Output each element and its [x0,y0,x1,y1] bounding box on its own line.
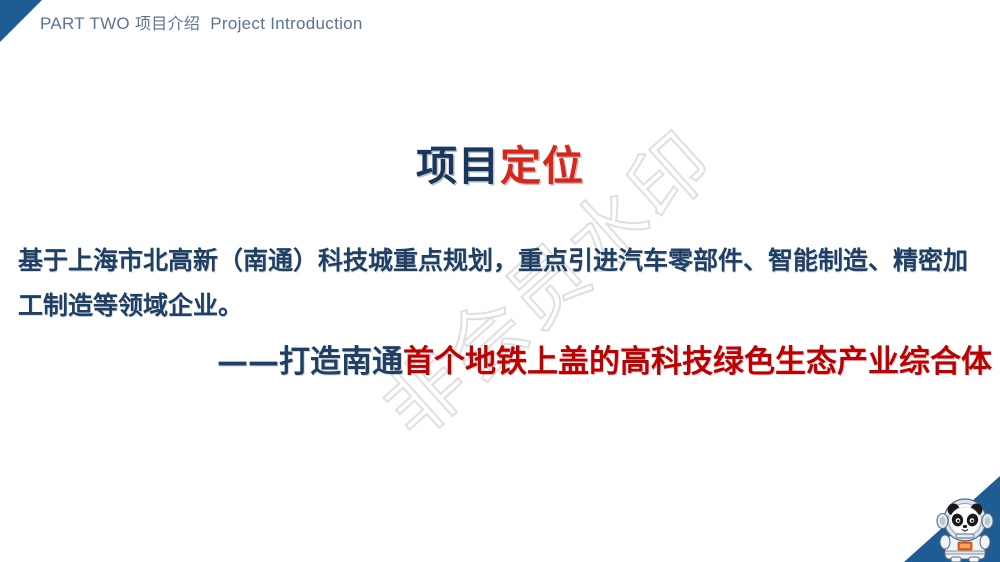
panda-astronaut-mascot [934,496,996,562]
tagline-part2: 首个地铁上盖的 [403,344,620,380]
page-title: 项目定位 [0,132,1000,192]
tagline-dash: —— [217,344,279,380]
body-paragraph: 基于上海市北高新（南通）科技城重点规划，重点引进汽车零部件、智能制造、精密加工制… [18,238,986,328]
header-title-en: Project Introduction [210,14,362,33]
top-left-corner-triangle [0,0,42,42]
slide-header: PART TWO 项目介绍 Project Introduction [40,10,363,34]
header-title-cn: 项目介绍 [135,14,200,33]
tagline: ——打造南通首个地铁上盖的高科技绿色生态产业综合体 [0,336,992,381]
tagline-part1: 打造南通 [279,344,403,380]
page-title-segment-blue: 项目 [416,142,500,190]
slide-canvas: PART TWO 项目介绍 Project Introduction 非会员水印… [0,0,1000,562]
page-title-segment-red: 定位 [500,142,584,190]
header-part-label: PART TWO [40,14,130,33]
tagline-part4: 高科技绿色生态产业综合体 [620,344,992,380]
